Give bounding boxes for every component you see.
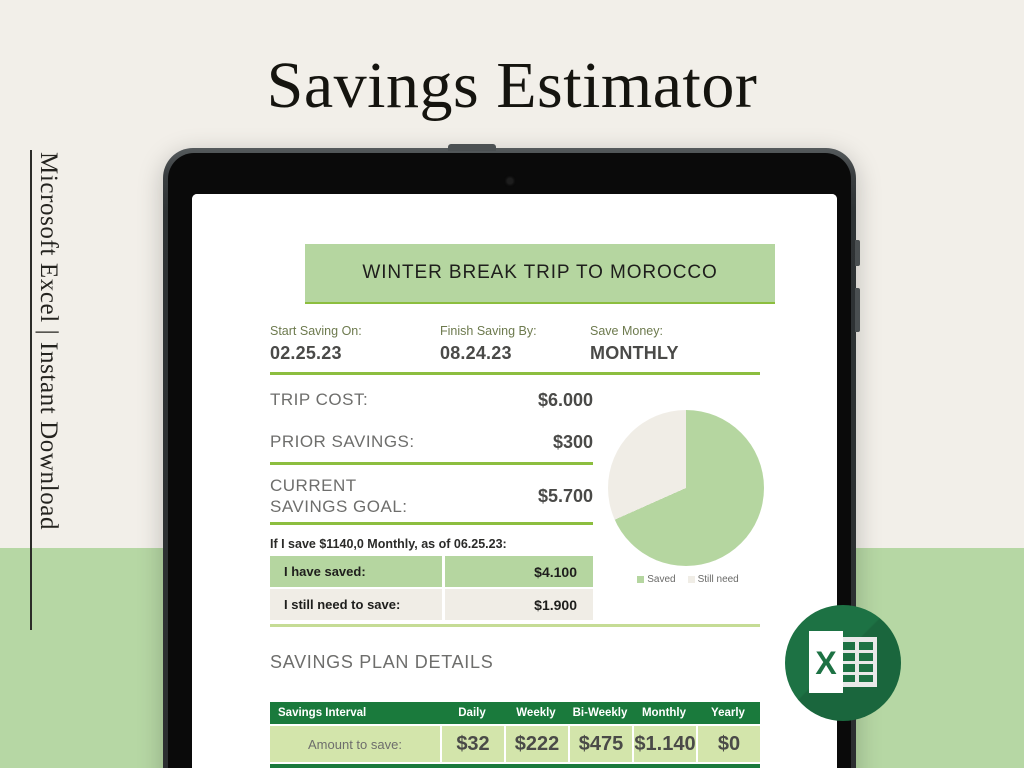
pie-chart-legend: Saved Still need — [608, 574, 768, 585]
save-frequency-value: MONTHLY — [590, 343, 679, 364]
amount-to-save-label: Amount to save: — [270, 726, 440, 762]
current-goal-row[interactable]: CURRENT SAVINGS GOAL: $5.700 — [270, 472, 593, 520]
tablet-device: WINTER BREAK TRIP TO MOROCCO Start Savin… — [163, 148, 856, 768]
table-row[interactable]: I have saved: $4.100 — [270, 556, 593, 587]
savings-header-weekly: Weekly — [504, 707, 568, 719]
side-caption-rule — [30, 150, 32, 630]
amount-yearly: $0 — [698, 726, 760, 762]
tablet-top-nub — [448, 144, 496, 151]
time-interval-header-row: Time Interval Days Weeks Bi-Weeks Months… — [270, 764, 760, 768]
savings-header-biweekly: Bi-Weekly — [568, 707, 632, 719]
amount-weekly: $222 — [506, 726, 568, 762]
current-goal-label-line1: CURRENT — [270, 476, 357, 495]
finish-date-label: Finish Saving By: — [440, 324, 537, 338]
savings-interval-header-row: Savings Interval Daily Weekly Bi-Weekly … — [270, 702, 760, 724]
tablet-side-button-power[interactable] — [855, 288, 860, 332]
trip-cost-label: TRIP COST: — [270, 389, 368, 410]
svg-text:X: X — [815, 645, 837, 681]
have-saved-value: $4.100 — [445, 556, 593, 587]
start-date-field[interactable]: Start Saving On: 02.25.23 — [270, 324, 362, 364]
prior-savings-row[interactable]: PRIOR SAVINGS: $300 — [270, 424, 593, 460]
pie-chart-graphic — [608, 410, 764, 566]
start-date-value: 02.25.23 — [270, 343, 362, 364]
save-frequency-label: Save Money: — [590, 324, 679, 338]
amount-daily: $32 — [442, 726, 504, 762]
trip-cost-value: $6.000 — [538, 390, 593, 411]
legend-label-still-need: Still need — [698, 574, 739, 585]
prior-savings-label: PRIOR SAVINGS: — [270, 431, 415, 452]
save-note-text: If I save $1140,0 Monthly, as of 06.25.2… — [270, 537, 507, 551]
tablet-side-button-volume[interactable] — [855, 240, 860, 266]
date-row: Start Saving On: 02.25.23 Finish Saving … — [270, 324, 760, 370]
spreadsheet-canvas: WINTER BREAK TRIP TO MOROCCO Start Savin… — [192, 194, 837, 768]
page-title: Savings Estimator — [0, 48, 1024, 124]
savings-header-daily: Daily — [440, 707, 504, 719]
cost-divider-bottom — [270, 522, 593, 525]
current-goal-value: $5.700 — [538, 486, 593, 507]
tablet-bezel: WINTER BREAK TRIP TO MOROCCO Start Savin… — [168, 153, 851, 768]
trip-title-banner[interactable]: WINTER BREAK TRIP TO MOROCCO — [305, 244, 775, 304]
tablet-screen: WINTER BREAK TRIP TO MOROCCO Start Savin… — [192, 194, 837, 768]
trip-title-text: WINTER BREAK TRIP TO MOROCCO — [362, 262, 717, 284]
save-frequency-field[interactable]: Save Money: MONTHLY — [590, 324, 679, 364]
date-row-divider — [270, 372, 760, 375]
savings-pie-chart[interactable]: Saved Still need — [608, 410, 768, 585]
savings-plan-tables: Savings Interval Daily Weekly Bi-Weekly … — [270, 702, 760, 768]
still-need-value: $1.900 — [445, 589, 593, 620]
amount-monthly: $1.140 — [634, 726, 696, 762]
start-date-label: Start Saving On: — [270, 324, 362, 338]
current-goal-label: CURRENT SAVINGS GOAL: — [270, 475, 408, 518]
cost-divider-top — [270, 462, 593, 465]
side-caption-text: Microsoft Excel | Instant Download — [34, 152, 62, 530]
finish-date-field[interactable]: Finish Saving By: 08.24.23 — [440, 324, 537, 364]
legend-item-saved: Saved — [637, 574, 675, 585]
microsoft-excel-logo-icon: X — [785, 605, 901, 721]
legend-label-saved: Saved — [647, 574, 675, 585]
legend-swatch-saved — [637, 576, 644, 583]
finish-date-value: 08.24.23 — [440, 343, 537, 364]
tablet-camera-icon — [507, 178, 513, 184]
still-need-label: I still need to save: — [270, 589, 442, 620]
current-goal-label-line2: SAVINGS GOAL: — [270, 497, 408, 516]
table-row[interactable]: Amount to save: $32 $222 $475 $1.140 $0 — [270, 726, 760, 762]
savings-interval-header-label: Savings Interval — [270, 707, 440, 719]
progress-table: I have saved: $4.100 I still need to sav… — [270, 556, 593, 622]
savings-header-monthly: Monthly — [632, 707, 696, 719]
prior-savings-value: $300 — [553, 432, 593, 453]
plan-section-heading: SAVINGS PLAN DETAILS — [270, 652, 493, 673]
table-row[interactable]: I still need to save: $1.900 — [270, 589, 593, 620]
legend-item-still-need: Still need — [688, 574, 739, 585]
savings-header-yearly: Yearly — [696, 707, 760, 719]
excel-logo-graphic: X — [807, 629, 879, 697]
amount-biweekly: $475 — [570, 726, 632, 762]
have-saved-label: I have saved: — [270, 556, 442, 587]
section-divider — [270, 624, 760, 627]
side-caption: Microsoft Excel | Instant Download — [30, 150, 70, 630]
legend-swatch-still-need — [688, 576, 695, 583]
trip-cost-row[interactable]: TRIP COST: $6.000 — [270, 382, 593, 418]
